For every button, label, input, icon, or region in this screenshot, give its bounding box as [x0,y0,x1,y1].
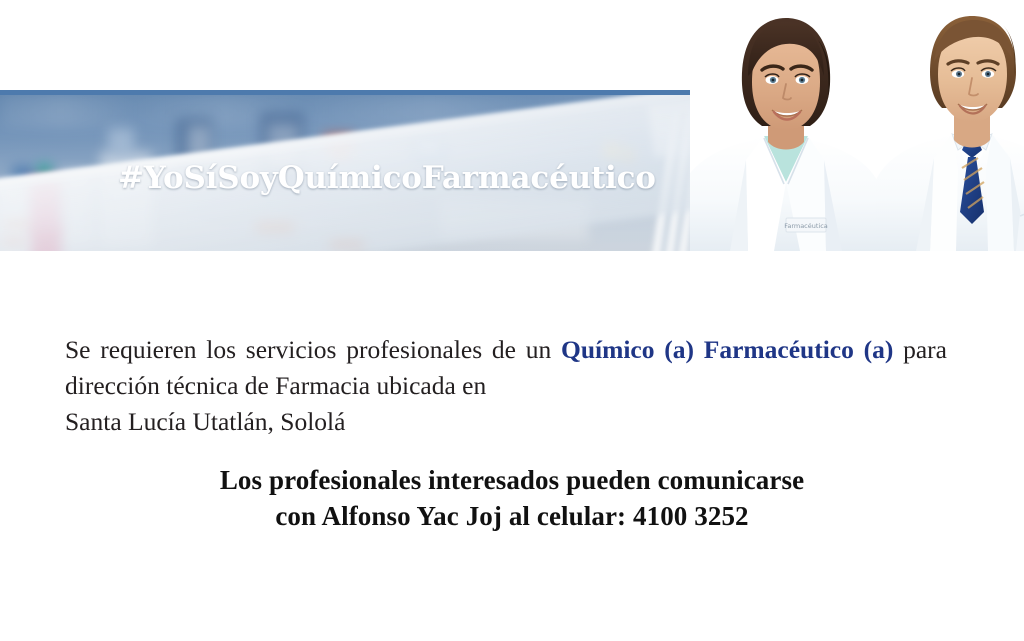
pharmacists-photo: Farmacéutica [690,0,1024,251]
campaign-hashtag: #YoSíSoyQuímicoFarmacéutico [118,160,656,196]
pharmacists-illustration: Farmacéutica [690,0,1024,251]
svg-text:Farmacéutica: Farmacéutica [784,222,828,230]
role-highlight-quimico: Químico (a) [561,335,694,364]
contact-block: Los profesionales interesados pueden com… [0,462,1024,534]
contact-line-1: Los profesionales interesados pueden com… [0,462,1024,498]
job-description: Se requieren los servicios profesionales… [65,332,947,440]
job-description-paragraph: Se requieren los servicios profesionales… [65,332,947,404]
desc-lead: Se requieren los servicios profesionales… [65,335,561,364]
job-location: Santa Lucía Utatlán, Sololá [65,404,947,440]
contact-line-2: con Alfonso Yac Joj al celular: 4100 325… [0,498,1024,534]
role-highlight-farmaceutico: Farmacéutico (a) [704,335,894,364]
